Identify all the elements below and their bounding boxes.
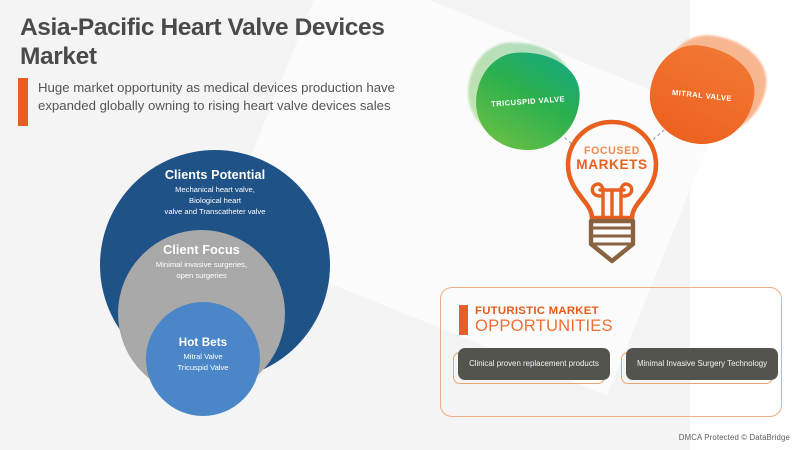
ring-title: Clients Potential: [165, 168, 265, 182]
ring-description: Minimal invasive surgeries,open surgerie…: [156, 260, 247, 282]
ring-description: Mechanical heart valve,Biological heartv…: [165, 185, 266, 217]
ring-title: Client Focus: [163, 243, 240, 257]
opportunity-chip-minimal-invasive-surgery-technology[interactable]: Minimal Invasive Surgery Technology: [621, 348, 773, 380]
copyright-footer: DMCA Protected © DataBridge: [679, 433, 790, 442]
blob-mitral-valve[interactable]: MITRAL VALVE: [648, 36, 770, 148]
ring-title: Hot Bets: [179, 336, 227, 349]
opportunity-chip-row: Clinical proven replacement products Min…: [453, 348, 773, 380]
chip-body[interactable]: Minimal Invasive Surgery Technology: [626, 348, 778, 380]
panel-heading-text: FUTURISTIC MARKET OPPORTUNITIES: [475, 305, 613, 335]
futuristic-opportunities-panel: FUTURISTIC MARKET OPPORTUNITIES Clinical…: [440, 287, 782, 417]
ring-hot-bets[interactable]: Hot Bets Mitral ValveTricuspid Valve: [146, 302, 260, 416]
panel-heading: FUTURISTIC MARKET OPPORTUNITIES: [459, 305, 613, 335]
panel-heading-line-2: OPPORTUNITIES: [475, 318, 613, 335]
chip-label: Minimal Invasive Surgery Technology: [637, 358, 767, 369]
page-subtitle: Huge market opportunity as medical devic…: [38, 78, 418, 126]
subtitle-block: Huge market opportunity as medical devic…: [18, 78, 418, 126]
accent-bar-icon: [459, 305, 468, 335]
lightbulb-glyph: [558, 118, 666, 266]
blob-label: TRICUSPID VALVE: [491, 94, 565, 108]
chip-body[interactable]: Clinical proven replacement products: [458, 348, 610, 380]
infographic-canvas: Asia-Pacific Heart Valve Devices Market …: [0, 0, 800, 450]
concentric-circles-diagram: Clients Potential Mechanical heart valve…: [100, 150, 330, 440]
page-title: Asia-Pacific Heart Valve Devices Market: [20, 14, 420, 71]
chip-label: Clinical proven replacement products: [469, 358, 599, 369]
ring-description: Mitral ValveTricuspid Valve: [177, 352, 228, 374]
opportunity-chip-clinical-proven-replacement-products[interactable]: Clinical proven replacement products: [453, 348, 605, 380]
blob-label: MITRAL VALVE: [672, 87, 733, 102]
accent-bar-icon: [18, 78, 28, 126]
lightbulb-icon: FOCUSED MARKETS: [558, 118, 666, 266]
bulb-label-line-1: FOCUSED: [558, 145, 666, 157]
bulb-label-line-2: MARKETS: [558, 157, 666, 172]
